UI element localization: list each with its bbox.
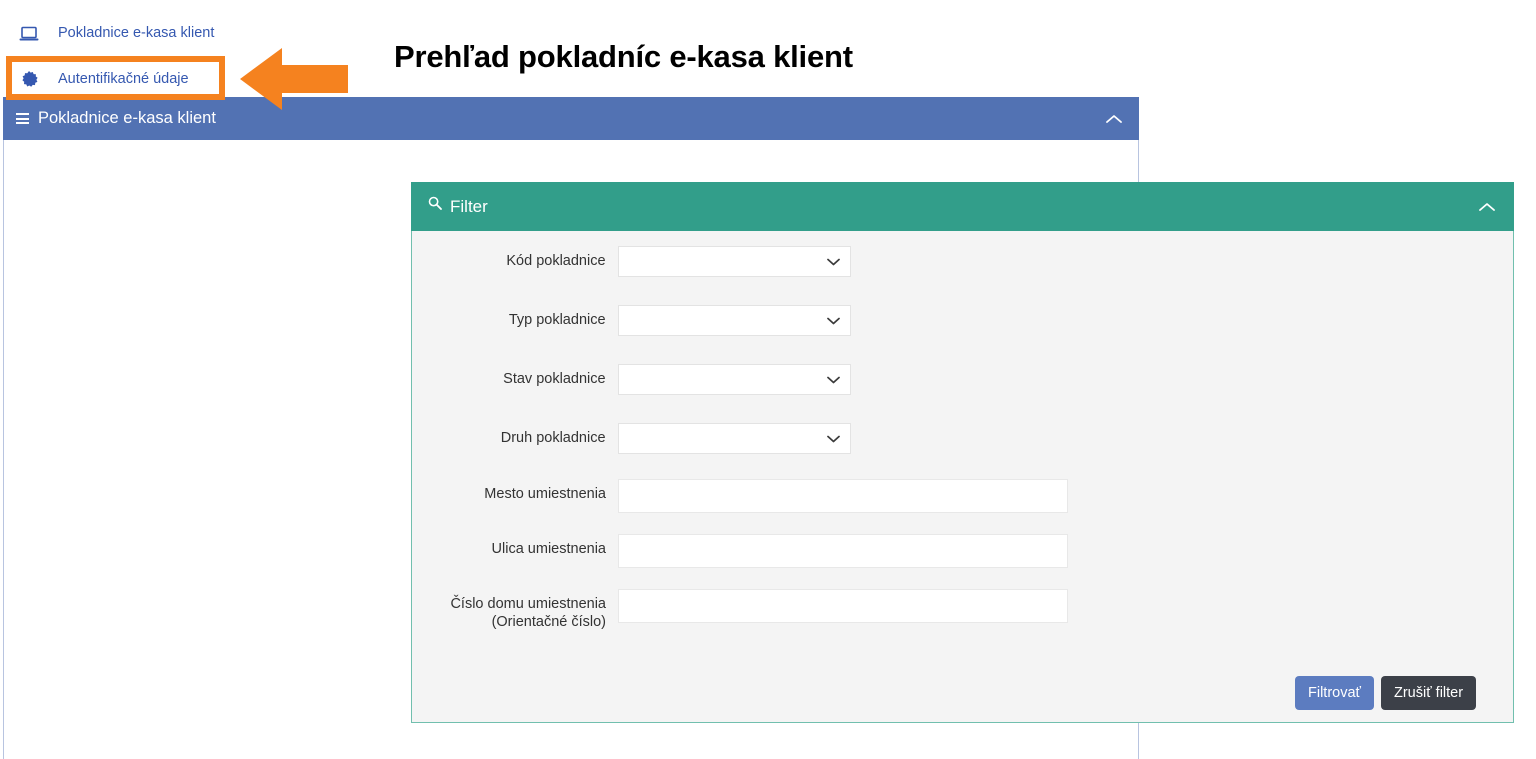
field-row-mesto-umiestnenia: Mesto umiestnenia: [416, 479, 1081, 513]
field-label: Ulica umiestnenia: [416, 534, 606, 558]
stav-pokladnice-select[interactable]: [618, 364, 851, 395]
pokladnice-panel-title: Pokladnice e-kasa klient: [38, 109, 216, 128]
chevron-down-icon: [827, 376, 840, 384]
pokladnice-panel-header[interactable]: Pokladnice e-kasa klient: [3, 97, 1139, 140]
sidebar-item-pokladnice-e-kasa-klient[interactable]: Pokladnice e-kasa klient: [18, 22, 214, 44]
mesto-umiestnenia-input[interactable]: [618, 479, 1068, 513]
chevron-down-icon: [827, 317, 840, 325]
laptop-icon: [18, 23, 40, 45]
sidebar-item-label: Autentifikačné údaje: [58, 68, 189, 90]
hamburger-icon: [16, 113, 29, 124]
filter-panel-title: Filter: [450, 197, 488, 217]
field-row-kod-pokladnice: Kód pokladnice: [416, 246, 851, 277]
field-row-stav-pokladnice: Stav pokladnice: [416, 364, 851, 395]
field-label: Mesto umiestnenia: [416, 479, 606, 503]
ulica-umiestnenia-input[interactable]: [618, 534, 1068, 568]
field-label: Kód pokladnice: [416, 246, 606, 270]
zrusit-filter-button[interactable]: Zrušiť filter: [1381, 676, 1476, 710]
druh-pokladnice-select[interactable]: [618, 423, 851, 454]
cislo-domu-umiestnenia-input[interactable]: [618, 589, 1068, 623]
app-root: Pokladnice e-kasa klient Autentifikačné …: [0, 0, 1536, 759]
field-row-cislo-domu-umiestnenia: Číslo domu umiestnenia (Orientačné číslo…: [416, 589, 1081, 631]
filtrovat-button[interactable]: Filtrovať: [1295, 676, 1374, 710]
arrow-annotation-icon: [240, 48, 348, 110]
typ-pokladnice-select[interactable]: [618, 305, 851, 336]
chevron-up-icon[interactable]: [1478, 198, 1496, 216]
field-label: Číslo domu umiestnenia (Orientačné číslo…: [416, 589, 606, 631]
search-icon: [428, 196, 442, 215]
chevron-down-icon: [827, 258, 840, 266]
field-label: Stav pokladnice: [416, 364, 606, 388]
kod-pokladnice-select[interactable]: [618, 246, 851, 277]
field-label: Typ pokladnice: [416, 305, 606, 329]
filter-action-buttons: Filtrovať Zrušiť filter: [1295, 676, 1476, 710]
field-row-ulica-umiestnenia: Ulica umiestnenia: [416, 534, 1081, 568]
chevron-up-icon[interactable]: [1105, 110, 1123, 128]
filter-panel-header[interactable]: Filter: [411, 182, 1514, 231]
certificate-badge-icon: [18, 69, 40, 91]
field-label: Druh pokladnice: [416, 423, 606, 447]
sidebar-item-autentifikacne-udaje[interactable]: Autentifikačné údaje: [18, 68, 189, 90]
sidebar-item-label: Pokladnice e-kasa klient: [58, 22, 214, 44]
chevron-down-icon: [827, 435, 840, 443]
page-title: Prehľad pokladníc e-kasa klient: [394, 39, 853, 75]
field-row-druh-pokladnice: Druh pokladnice: [416, 423, 851, 454]
field-row-typ-pokladnice: Typ pokladnice: [416, 305, 851, 336]
